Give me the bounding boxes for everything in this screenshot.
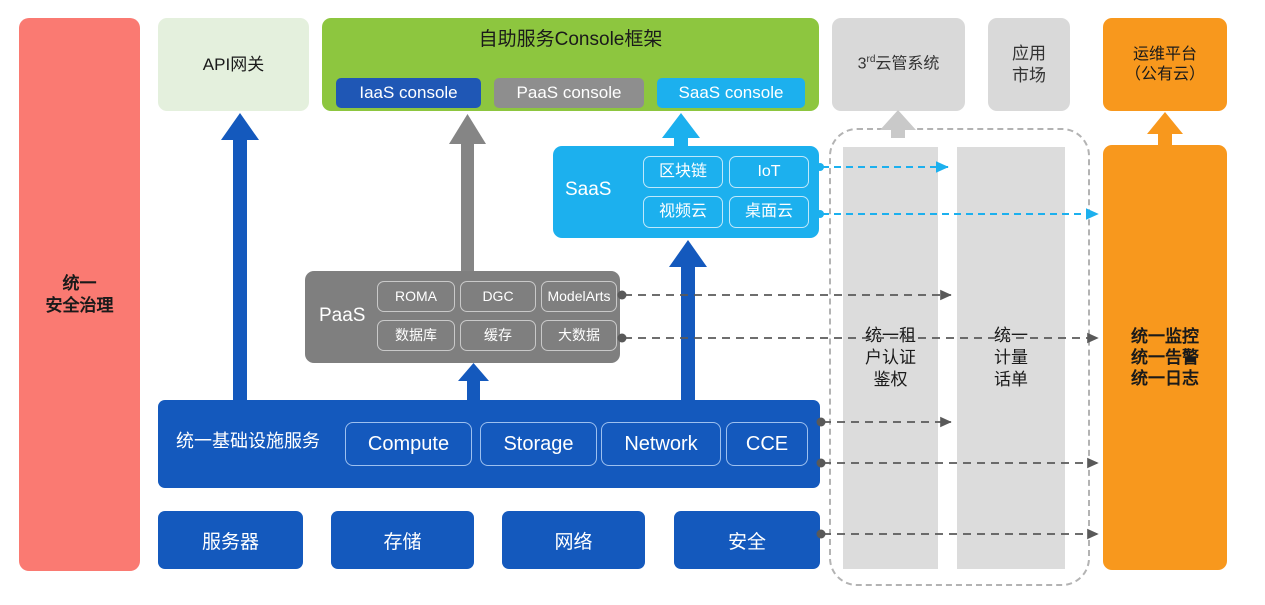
hardware-box-storage[interactable]: 存储 <box>331 511 474 569</box>
iaas-chip-network[interactable]: Network <box>601 422 721 466</box>
third-party-cloud-mgmt-box: 3rd云管系统 <box>832 18 965 111</box>
saas-chip-desktop-cloud[interactable]: 桌面云 <box>729 196 809 228</box>
app-market-label: 应用市场 <box>1012 43 1046 86</box>
architecture-diagram: 统一安全治理 API网关 自助服务Console框架 IaaS console … <box>0 0 1265 605</box>
ops-platform-box: 运维平台（公有云） <box>1103 18 1227 111</box>
console-chip-paas[interactable]: PaaS console <box>494 78 644 108</box>
arrow-iaas-to-paas <box>458 363 489 401</box>
paas-chip-roma[interactable]: ROMA <box>377 281 455 312</box>
shared-service-column-auth: 统一租户认证鉴权 <box>843 147 938 569</box>
paas-chip-bigdata[interactable]: 大数据 <box>541 320 617 351</box>
ops-monitoring-panel: 统一监控统一告警统一日志 <box>1103 145 1227 570</box>
saas-layer-label: SaaS <box>565 178 611 202</box>
arrow-iaas-to-api-gateway <box>221 113 259 401</box>
saas-layer-panel: SaaS 区块链 IoT 视频云 桌面云 <box>553 146 819 238</box>
shared-service-column-billing: 统一计量话单 <box>957 147 1065 569</box>
paas-layer-label: PaaS <box>319 304 365 328</box>
saas-chip-blockchain[interactable]: 区块链 <box>643 156 723 188</box>
console-chip-saas[interactable]: SaaS console <box>657 78 805 108</box>
ops-monitoring-label: 统一监控统一告警统一日志 <box>1131 326 1199 390</box>
shared-service-auth-label: 统一租户认证鉴权 <box>865 325 916 391</box>
third-party-label: 3rd云管系统 <box>858 54 940 74</box>
console-chip-iaas[interactable]: IaaS console <box>336 78 481 108</box>
iaas-chip-storage[interactable]: Storage <box>480 422 597 466</box>
iaas-chip-compute[interactable]: Compute <box>345 422 472 466</box>
hardware-box-network[interactable]: 网络 <box>502 511 645 569</box>
arrow-paas-to-console <box>449 114 486 271</box>
hardware-box-server[interactable]: 服务器 <box>158 511 303 569</box>
arrow-saas-to-console <box>662 113 700 148</box>
paas-layer-panel: PaaS ROMA DGC ModelArts 数据库 缓存 大数据 <box>305 271 620 363</box>
security-governance-label: 统一安全治理 <box>46 273 114 316</box>
paas-chip-modelarts[interactable]: ModelArts <box>541 281 617 312</box>
paas-chip-cache[interactable]: 缓存 <box>460 320 536 351</box>
security-governance-panel: 统一安全治理 <box>19 18 140 571</box>
hardware-box-security[interactable]: 安全 <box>674 511 820 569</box>
saas-chip-iot[interactable]: IoT <box>729 156 809 188</box>
iaas-layer-label: 统一基础设施服务 <box>176 430 320 453</box>
iaas-infrastructure-bar: 统一基础设施服务 Compute Storage Network CCE <box>158 400 820 488</box>
api-gateway-label: API网关 <box>203 54 264 75</box>
paas-chip-database[interactable]: 数据库 <box>377 320 455 351</box>
saas-chip-video-cloud[interactable]: 视频云 <box>643 196 723 228</box>
arrow-to-ops-platform <box>1147 112 1183 146</box>
api-gateway-box: API网关 <box>158 18 309 111</box>
paas-chip-dgc[interactable]: DGC <box>460 281 536 312</box>
ops-platform-label: 运维平台（公有云） <box>1125 45 1205 85</box>
console-framework-title: 自助服务Console框架 <box>322 28 819 52</box>
app-market-box: 应用市场 <box>988 18 1070 111</box>
arrow-iaas-to-saas <box>669 240 707 401</box>
console-framework-panel: 自助服务Console框架 IaaS console PaaS console … <box>322 18 819 111</box>
shared-service-billing-label: 统一计量话单 <box>994 325 1028 391</box>
iaas-chip-cce[interactable]: CCE <box>726 422 808 466</box>
